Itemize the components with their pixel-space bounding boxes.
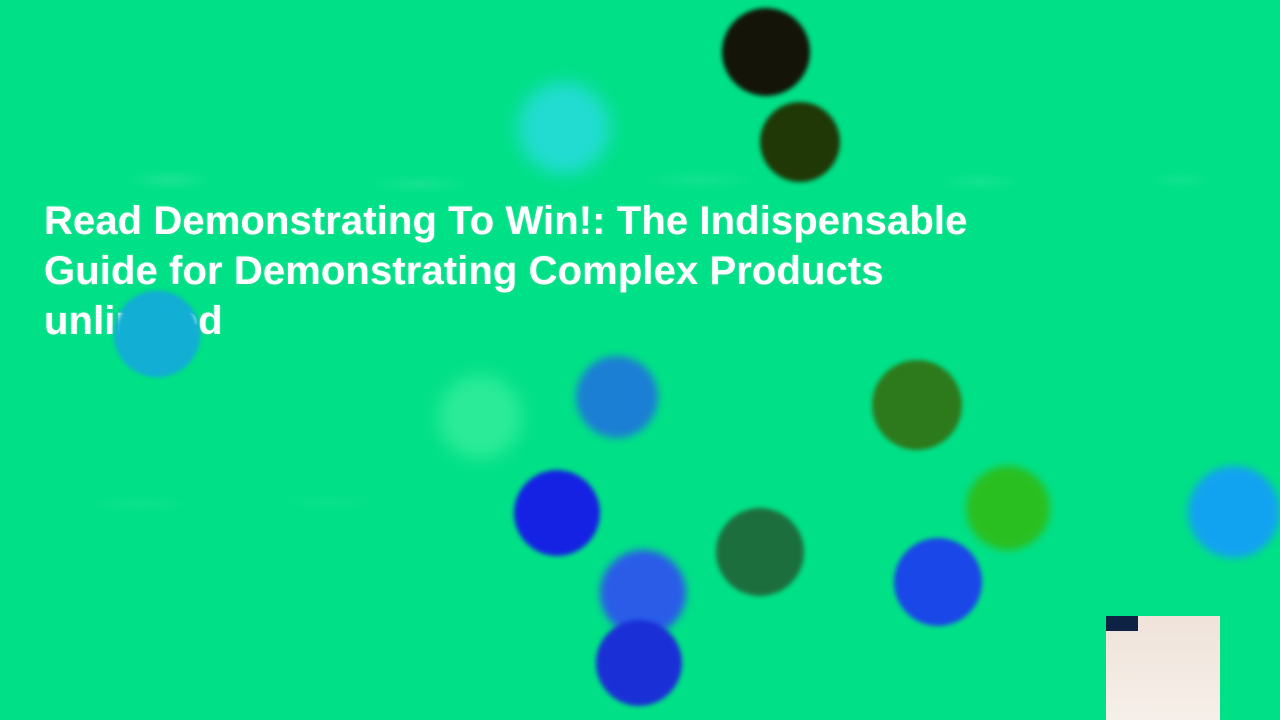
circle-navy-left-icon (514, 470, 600, 556)
circle-cornflower-low-icon (600, 550, 686, 636)
circle-blue-mid-icon (576, 356, 658, 438)
book-cover-caption-bar (1106, 616, 1138, 631)
circle-deepblue-low-icon (596, 620, 682, 706)
title-line-2: Guide for Demonstrating Complex Products (44, 249, 884, 293)
book-cover-base-strip (1106, 616, 1220, 720)
circle-forest-right-icon (872, 360, 962, 450)
circle-azure-edge-icon (1188, 466, 1280, 558)
page-title: Read Demonstrating To Win!: The Indispen… (44, 196, 1174, 346)
circle-darkgreen-mid-icon (716, 508, 804, 596)
circle-cyan-top-icon (518, 82, 610, 174)
title-line-3: unlimited (44, 299, 223, 343)
circle-royalblue-right-icon (894, 538, 982, 626)
circle-black-top-icon (722, 8, 810, 96)
circle-mint-mid-icon (438, 375, 522, 459)
circle-green-vivid-icon (966, 466, 1050, 550)
compression-ghost-band-mid (0, 480, 1280, 526)
title-line-1: Read Demonstrating To Win!: The Indispen… (44, 199, 967, 243)
thumbnail-canvas: Read Demonstrating To Win!: The Indispen… (0, 0, 1280, 720)
book-cover-thumbnail[interactable] (1106, 616, 1220, 720)
circle-darkolive-top-icon (760, 102, 840, 182)
